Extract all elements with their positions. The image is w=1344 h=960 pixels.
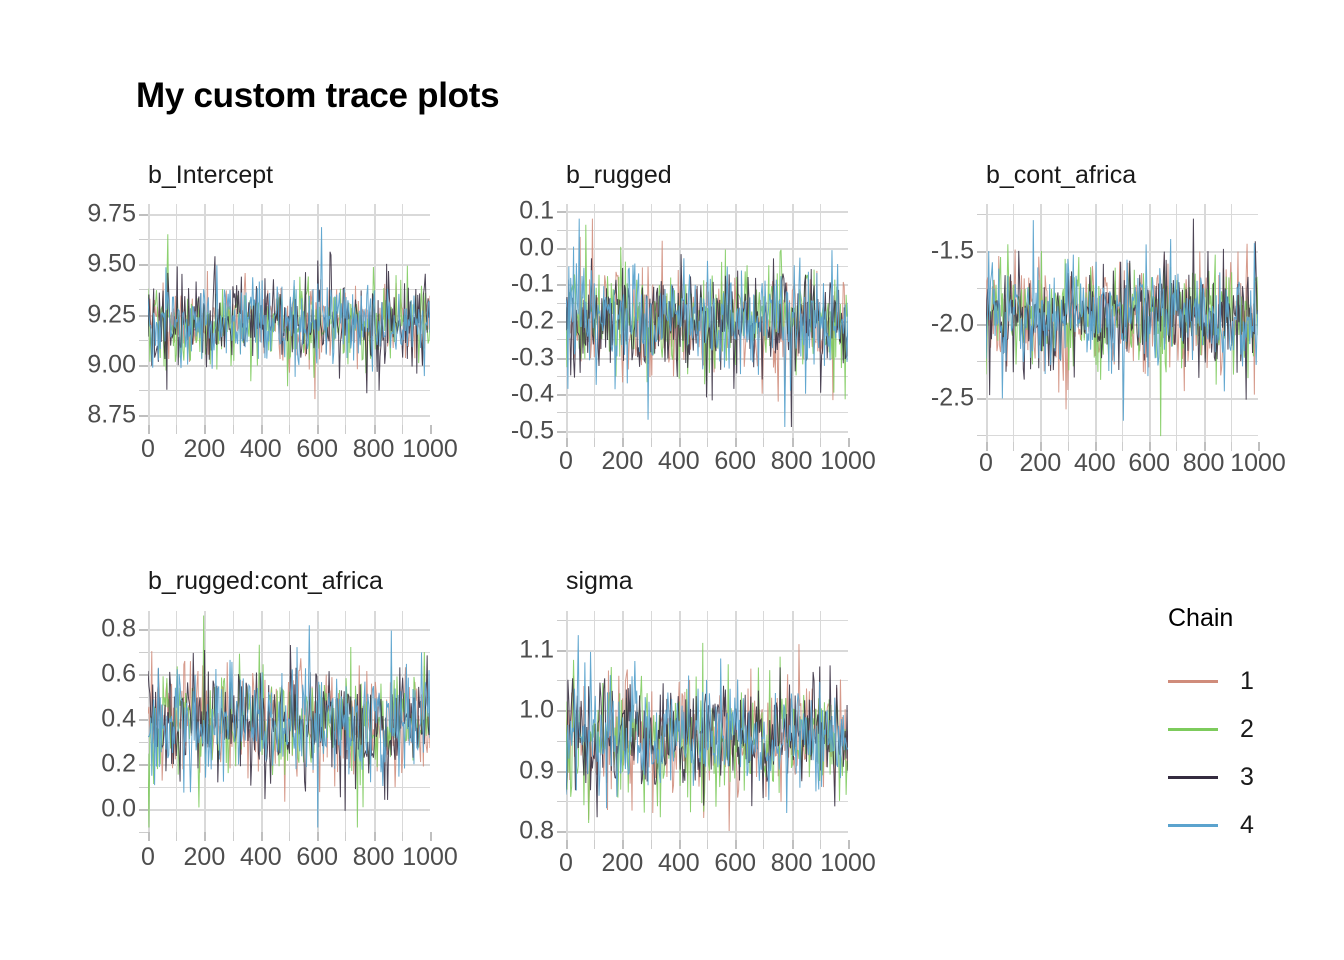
x-tick-mark-major <box>1258 442 1260 451</box>
trace-line-chain-3 <box>566 254 848 427</box>
gridline-major-horizontal <box>148 415 430 417</box>
y-tick-marks <box>148 204 149 425</box>
y-tick-label: -0.5 <box>511 418 554 443</box>
x-tick-label: 200 <box>184 437 226 462</box>
y-tick-label: 0.2 <box>101 752 136 777</box>
y-tick-mark-minor <box>557 266 566 267</box>
y-tick-mark-major <box>977 251 986 253</box>
x-tick-mark-minor <box>345 832 346 841</box>
x-tick-mark-minor <box>176 832 177 841</box>
facet-panel: b_rugged:cont_africa0.00.20.40.60.802004… <box>0 0 1344 960</box>
legend-item-label: 2 <box>1240 717 1254 742</box>
x-tick-mark-major <box>1095 442 1097 451</box>
y-tick-mark-minor <box>139 390 148 391</box>
facet-panel: b_cont_africa-2.5-2.0-1.5020040060080010… <box>0 0 1344 960</box>
gridline-minor-horizontal <box>986 361 1258 362</box>
gridline-minor-vertical <box>1122 204 1123 442</box>
legend-item[interactable]: 2 <box>1168 705 1254 753</box>
y-tick-mark-minor <box>977 214 986 215</box>
y-tick-label: -0.4 <box>511 382 554 407</box>
y-tick-label: -2.5 <box>931 385 974 410</box>
y-tick-marks <box>986 204 987 442</box>
y-tick-label: 9.00 <box>87 352 136 377</box>
x-tick-mark-major <box>792 840 794 849</box>
y-tick-mark-major <box>557 771 566 773</box>
gridline-major-vertical <box>261 204 263 425</box>
legend-title: Chain <box>1168 604 1254 633</box>
gridline-minor-vertical <box>651 204 652 438</box>
trace-line-chain-4 <box>148 625 430 827</box>
gridline-minor-vertical <box>707 204 708 438</box>
x-tick-label: 0 <box>559 449 573 474</box>
x-tick-label: 0 <box>141 437 155 462</box>
y-tick-label: 0.8 <box>519 818 554 843</box>
x-tick-mark-major <box>148 832 150 841</box>
x-tick-mark-minor <box>1176 442 1177 451</box>
gridline-minor-horizontal <box>148 340 430 341</box>
gridline-minor-vertical <box>345 611 346 832</box>
x-tick-mark-minor <box>1122 442 1123 451</box>
y-tick-mark-major <box>139 415 148 417</box>
legend-color-swatch <box>1168 766 1218 788</box>
x-tick-mark-major <box>566 438 568 447</box>
x-tick-mark-minor <box>651 840 652 849</box>
gridline-minor-vertical <box>707 611 708 840</box>
x-tick-mark-minor <box>402 832 403 841</box>
plot-area <box>566 204 848 438</box>
x-tick-mark-major <box>1149 442 1151 451</box>
x-tick-label: 600 <box>296 437 338 462</box>
gridline-minor-vertical <box>402 611 403 832</box>
gridline-major-vertical <box>679 204 681 438</box>
gridline-minor-vertical <box>763 611 764 840</box>
gridline-major-vertical <box>374 204 376 425</box>
gridline-minor-vertical <box>233 611 234 832</box>
gridline-major-horizontal <box>148 809 430 811</box>
legend-item-label: 4 <box>1240 813 1254 838</box>
legend-item[interactable]: 3 <box>1168 753 1254 801</box>
gridline-major-vertical <box>1149 204 1151 442</box>
x-tick-mark-major <box>848 438 850 447</box>
y-tick-mark-major <box>557 394 566 396</box>
gridline-major-horizontal <box>986 251 1258 253</box>
x-tick-marks <box>148 425 430 434</box>
y-tick-mark-major <box>557 284 566 286</box>
x-tick-label: 600 <box>296 845 338 870</box>
gridline-major-horizontal <box>148 719 430 721</box>
gridline-minor-vertical <box>594 204 595 438</box>
facet-title: sigma <box>566 567 633 596</box>
gridline-minor-vertical <box>233 204 234 425</box>
x-tick-label: 800 <box>353 845 395 870</box>
y-tick-label: 0.9 <box>519 758 554 783</box>
gridline-minor-vertical <box>289 611 290 832</box>
gridline-major-horizontal <box>566 710 848 712</box>
facet-title: b_Intercept <box>148 161 273 190</box>
gridline-minor-horizontal <box>148 787 430 788</box>
x-tick-label: 1000 <box>402 845 458 870</box>
x-tick-label: 800 <box>353 437 395 462</box>
x-tick-mark-major <box>1204 442 1206 451</box>
y-axis: -0.5-0.4-0.3-0.2-0.10.00.1 <box>0 0 554 960</box>
y-tick-label: 1.1 <box>519 638 554 663</box>
x-tick-label: 400 <box>240 437 282 462</box>
y-tick-mark-minor <box>557 376 566 377</box>
x-tick-mark-major <box>566 840 568 849</box>
gridline-major-horizontal <box>566 211 848 213</box>
x-tick-mark-major <box>1040 442 1042 451</box>
y-tick-mark-minor <box>139 652 148 653</box>
x-tick-mark-minor <box>1231 442 1232 451</box>
x-tick-mark-minor <box>402 425 403 434</box>
x-tick-label: 400 <box>658 449 700 474</box>
x-tick-marks <box>566 438 848 447</box>
page-title: My custom trace plots <box>136 76 499 116</box>
x-tick-marks <box>566 840 848 849</box>
x-tick-mark-major <box>735 840 737 849</box>
gridline-major-vertical <box>792 611 794 840</box>
facet-panel: b_rugged-0.5-0.4-0.3-0.2-0.10.00.1020040… <box>0 0 1344 960</box>
y-tick-mark-major <box>557 248 566 250</box>
y-tick-mark-major <box>557 358 566 360</box>
trace-line-chain-2 <box>566 643 848 823</box>
x-tick-label: 600 <box>714 449 756 474</box>
gridline-major-horizontal <box>566 771 848 773</box>
y-axis: -2.5-2.0-1.5 <box>0 0 974 960</box>
x-tick-mark-major <box>317 832 319 841</box>
gridline-major-horizontal <box>148 764 430 766</box>
gridline-minor-horizontal <box>986 214 1258 215</box>
x-tick-mark-major <box>430 832 432 841</box>
gridline-minor-vertical <box>594 611 595 840</box>
y-tick-label: 8.75 <box>87 402 136 427</box>
gridline-major-vertical <box>148 204 150 425</box>
y-tick-label: -0.2 <box>511 309 554 334</box>
trace-line-chain-1 <box>148 651 430 802</box>
gridline-minor-horizontal <box>566 412 848 413</box>
gridline-minor-horizontal <box>566 801 848 802</box>
x-tick-mark-minor <box>233 832 234 841</box>
gridline-major-horizontal <box>566 650 848 652</box>
gridline-major-vertical <box>735 611 737 840</box>
x-tick-label: 0 <box>559 851 573 876</box>
gridline-major-vertical <box>622 611 624 840</box>
x-tick-label: 200 <box>1020 451 1062 476</box>
trace-line-chain-4 <box>566 219 848 427</box>
gridline-minor-horizontal <box>566 620 848 621</box>
x-tick-mark-major <box>986 442 988 451</box>
x-tick-label: 400 <box>1074 451 1116 476</box>
x-tick-label: 0 <box>141 845 155 870</box>
trace-line-chain-1 <box>566 219 848 402</box>
gridline-minor-horizontal <box>148 652 430 653</box>
gridline-major-vertical <box>986 204 988 442</box>
y-tick-mark-minor <box>557 339 566 340</box>
x-tick-mark-major <box>622 840 624 849</box>
facet-title: b_rugged <box>566 161 672 190</box>
gridline-minor-horizontal <box>566 376 848 377</box>
x-tick-mark-major <box>622 438 624 447</box>
legend-item[interactable]: 1 <box>1168 657 1254 705</box>
x-tick-label: 400 <box>240 845 282 870</box>
gridline-major-horizontal <box>566 431 848 433</box>
gridline-minor-horizontal <box>566 339 848 340</box>
y-tick-label: 0.8 <box>101 617 136 642</box>
y-tick-mark-major <box>139 719 148 721</box>
gridline-major-vertical <box>566 611 568 840</box>
x-tick-mark-minor <box>594 840 595 849</box>
trace-line-chain-4 <box>986 220 1258 421</box>
y-tick-mark-minor <box>977 435 986 436</box>
y-tick-label: -2.0 <box>931 312 974 337</box>
gridline-major-horizontal <box>148 674 430 676</box>
gridline-major-vertical <box>317 204 319 425</box>
gridline-major-horizontal <box>148 365 430 367</box>
panel-background <box>566 611 848 840</box>
y-tick-mark-minor <box>557 741 566 742</box>
gridline-major-vertical <box>1040 204 1042 442</box>
y-tick-mark-major <box>139 629 148 631</box>
facet-panel: b_Intercept8.759.009.259.509.75020040060… <box>0 0 1344 960</box>
legend-color-swatch <box>1168 718 1218 740</box>
x-tick-label: 200 <box>184 845 226 870</box>
legend-item[interactable]: 4 <box>1168 801 1254 849</box>
x-tick-mark-minor <box>1013 442 1014 451</box>
facet-title: b_cont_africa <box>986 161 1136 190</box>
gridline-minor-vertical <box>820 204 821 438</box>
gridline-minor-vertical <box>1176 204 1177 442</box>
gridline-minor-vertical <box>1013 204 1014 442</box>
gridline-minor-horizontal <box>986 435 1258 436</box>
x-tick-mark-major <box>374 425 376 434</box>
x-tick-mark-major <box>848 840 850 849</box>
y-tick-mark-major <box>557 211 566 213</box>
trace-line-chain-4 <box>566 635 848 813</box>
legend-color-swatch <box>1168 814 1218 836</box>
x-tick-mark-major <box>204 425 206 434</box>
trace-lines <box>148 611 430 832</box>
y-tick-marks <box>148 611 149 832</box>
gridline-minor-vertical <box>1231 204 1232 442</box>
figure-canvas: My custom trace plots b_Intercept8.759.0… <box>0 0 1344 960</box>
y-tick-label: 0.4 <box>101 707 136 732</box>
y-tick-mark-major <box>139 264 148 266</box>
trace-line-chain-4 <box>148 227 430 377</box>
y-tick-mark-minor <box>139 742 148 743</box>
gridline-minor-vertical <box>345 204 346 425</box>
gridline-minor-horizontal <box>566 680 848 681</box>
gridline-major-horizontal <box>986 324 1258 326</box>
gridline-minor-horizontal <box>148 239 430 240</box>
x-tick-label: 400 <box>658 851 700 876</box>
x-tick-mark-minor <box>1068 442 1069 451</box>
x-tick-mark-major <box>430 425 432 434</box>
trace-lines <box>566 611 848 840</box>
x-tick-label: 1000 <box>820 449 876 474</box>
x-tick-marks <box>986 442 1258 451</box>
x-tick-mark-major <box>261 832 263 841</box>
y-tick-mark-minor <box>557 230 566 231</box>
y-tick-mark-major <box>557 831 566 833</box>
y-tick-mark-major <box>139 764 148 766</box>
x-tick-mark-major <box>317 425 319 434</box>
plot-area <box>148 611 430 832</box>
x-tick-mark-major <box>679 438 681 447</box>
x-tick-mark-major <box>792 438 794 447</box>
gridline-major-horizontal <box>566 321 848 323</box>
facet-panel: sigma0.80.91.01.102004006008001000 <box>0 0 1344 960</box>
x-tick-label: 800 <box>771 449 813 474</box>
legend-color-swatch <box>1168 670 1218 692</box>
y-tick-mark-minor <box>557 680 566 681</box>
x-tick-label: 1000 <box>820 851 876 876</box>
x-tick-mark-major <box>261 425 263 434</box>
y-tick-mark-major <box>977 324 986 326</box>
trace-line-chain-3 <box>148 645 430 811</box>
y-tick-mark-major <box>557 650 566 652</box>
x-tick-mark-major <box>204 832 206 841</box>
legend: Chain 1234 <box>1168 604 1254 849</box>
gridline-minor-horizontal <box>566 266 848 267</box>
x-tick-marks <box>148 832 430 841</box>
x-tick-label: 1000 <box>1230 451 1286 476</box>
gridline-major-horizontal <box>148 214 430 216</box>
plot-area <box>986 204 1258 442</box>
y-tick-mark-major <box>139 809 148 811</box>
gridline-minor-horizontal <box>566 230 848 231</box>
gridline-major-vertical <box>1095 204 1097 442</box>
gridline-minor-vertical <box>1068 204 1069 442</box>
plot-area <box>566 611 848 840</box>
x-tick-mark-minor <box>763 840 764 849</box>
y-tick-label: -1.5 <box>931 239 974 264</box>
trace-line-chain-2 <box>148 234 430 386</box>
y-tick-label: -0.1 <box>511 272 554 297</box>
y-tick-label: 0.0 <box>519 235 554 260</box>
plot-area <box>148 204 430 425</box>
gridline-minor-vertical <box>176 611 177 832</box>
trace-line-chain-3 <box>566 665 848 817</box>
y-tick-mark-major <box>557 431 566 433</box>
trace-line-chain-2 <box>566 225 848 400</box>
gridline-major-vertical <box>566 204 568 438</box>
gridline-major-horizontal <box>566 394 848 396</box>
panel-background <box>148 611 430 832</box>
gridline-major-vertical <box>735 204 737 438</box>
gridline-major-vertical <box>317 611 319 832</box>
y-tick-mark-minor <box>557 303 566 304</box>
x-tick-label: 1000 <box>402 437 458 462</box>
y-tick-label: -0.3 <box>511 345 554 370</box>
gridline-minor-vertical <box>763 204 764 438</box>
y-tick-label: 9.75 <box>87 202 136 227</box>
legend-item-label: 1 <box>1240 669 1254 694</box>
y-axis: 0.80.91.01.1 <box>0 0 554 960</box>
x-tick-mark-minor <box>707 840 708 849</box>
trace-line-chain-1 <box>566 644 848 831</box>
y-tick-label: 0.0 <box>101 797 136 822</box>
gridline-minor-vertical <box>176 204 177 425</box>
gridline-major-vertical <box>204 611 206 832</box>
trace-lines <box>986 204 1258 442</box>
trace-line-chain-2 <box>148 616 430 828</box>
gridline-major-horizontal <box>148 315 430 317</box>
y-tick-mark-minor <box>977 361 986 362</box>
x-tick-mark-minor <box>289 832 290 841</box>
panel-background <box>986 204 1258 442</box>
gridline-minor-horizontal <box>148 390 430 391</box>
trace-lines <box>148 204 430 425</box>
gridline-minor-vertical <box>820 611 821 840</box>
trace-line-chain-2 <box>986 244 1258 436</box>
trace-line-chain-3 <box>148 252 430 393</box>
x-tick-mark-minor <box>233 425 234 434</box>
y-tick-marks <box>566 204 567 438</box>
y-tick-label: 9.25 <box>87 302 136 327</box>
y-tick-mark-minor <box>977 288 986 289</box>
panel-background <box>566 204 848 438</box>
x-tick-mark-minor <box>707 438 708 447</box>
gridline-major-horizontal <box>148 629 430 631</box>
gridline-major-horizontal <box>148 264 430 266</box>
trace-line-chain-1 <box>148 271 430 399</box>
gridline-minor-vertical <box>651 611 652 840</box>
x-tick-mark-minor <box>176 425 177 434</box>
gridline-major-horizontal <box>566 831 848 833</box>
y-tick-label: 9.50 <box>87 252 136 277</box>
panel-background <box>148 204 430 425</box>
y-tick-mark-minor <box>139 787 148 788</box>
y-tick-mark-minor <box>139 239 148 240</box>
x-tick-label: 600 <box>1128 451 1170 476</box>
legend-items: 1234 <box>1168 657 1254 849</box>
y-axis: 0.00.20.40.60.8 <box>0 0 136 960</box>
gridline-minor-horizontal <box>566 741 848 742</box>
gridline-major-vertical <box>679 611 681 840</box>
gridline-minor-horizontal <box>986 288 1258 289</box>
y-tick-label: 0.1 <box>519 199 554 224</box>
x-tick-mark-minor <box>289 425 290 434</box>
x-tick-mark-minor <box>820 438 821 447</box>
x-tick-mark-minor <box>763 438 764 447</box>
y-tick-mark-minor <box>557 412 566 413</box>
x-tick-mark-major <box>374 832 376 841</box>
x-tick-label: 800 <box>1183 451 1225 476</box>
y-tick-mark-minor <box>557 801 566 802</box>
x-tick-mark-major <box>735 438 737 447</box>
y-tick-mark-minor <box>557 620 566 621</box>
gridline-major-horizontal <box>566 284 848 286</box>
gridline-major-vertical <box>792 204 794 438</box>
y-tick-marks <box>566 611 567 840</box>
gridline-major-vertical <box>622 204 624 438</box>
y-tick-mark-major <box>139 315 148 317</box>
y-tick-mark-minor <box>139 289 148 290</box>
y-tick-label: 1.0 <box>519 698 554 723</box>
x-tick-label: 200 <box>602 851 644 876</box>
gridline-minor-horizontal <box>148 289 430 290</box>
x-tick-label: 0 <box>979 451 993 476</box>
y-axis: 8.759.009.259.509.75 <box>0 0 136 960</box>
y-tick-mark-major <box>139 214 148 216</box>
gridline-minor-horizontal <box>566 303 848 304</box>
y-tick-mark-major <box>139 674 148 676</box>
y-tick-mark-major <box>557 321 566 323</box>
x-tick-mark-major <box>148 425 150 434</box>
y-tick-mark-major <box>557 710 566 712</box>
trace-line-chain-3 <box>986 219 1258 400</box>
trace-line-chain-1 <box>986 244 1258 410</box>
